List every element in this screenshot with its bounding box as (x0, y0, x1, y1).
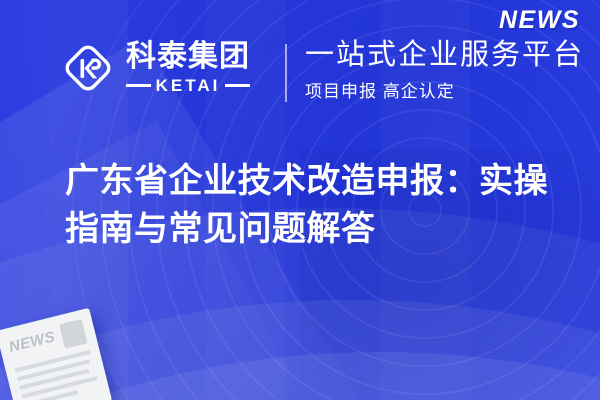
ketai-diamond-kp-logo-icon (60, 40, 116, 96)
page-title: 广东省企业技术改造申报：实操指南与常见问题解答 (65, 157, 555, 254)
logo-rule-right (225, 84, 250, 87)
logo-rule-left (126, 84, 151, 87)
tagline-primary: 一站式企业服务平台 (305, 40, 584, 71)
brand-name-cn: 科泰集团 (126, 42, 250, 72)
banner-header: 科泰集团 KETAI 一站式企业服务平台 项目申报 高企认定 NEWS (0, 0, 600, 132)
tagline-block: 一站式企业服务平台 项目申报 高企认定 (305, 40, 584, 102)
image-placeholder-icon (59, 319, 87, 349)
news-badge: NEWS (499, 6, 580, 35)
newspaper-title: NEWS (7, 326, 57, 355)
brand-logo-wordmark: 科泰集团 KETAI (126, 42, 250, 94)
brand-logo[interactable]: 科泰集团 KETAI (60, 40, 250, 96)
news-banner: 科泰集团 KETAI 一站式企业服务平台 项目申报 高企认定 NEWS 广东省企… (0, 0, 600, 400)
header-vertical-divider (285, 44, 287, 102)
brand-name-en: KETAI (156, 77, 221, 94)
brand-name-en-row: KETAI (126, 77, 250, 94)
tagline-secondary: 项目申报 高企认定 (305, 77, 584, 102)
